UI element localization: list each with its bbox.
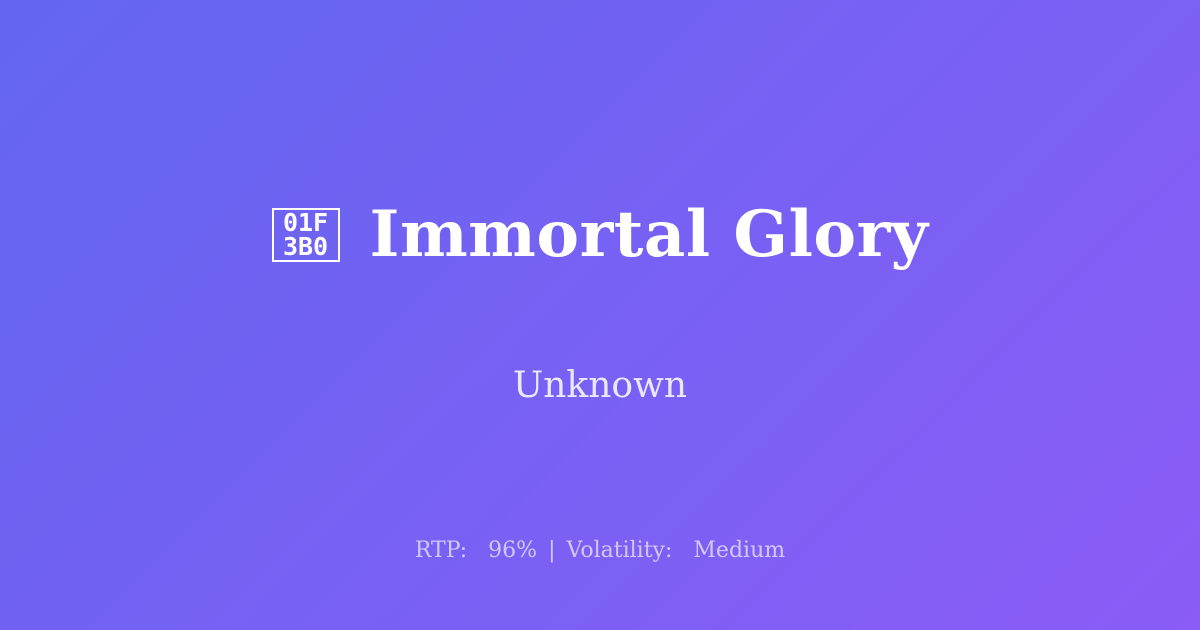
- rtp-value: 96%: [488, 538, 537, 563]
- rtp-label: RTP:: [415, 538, 467, 563]
- page-title: Immortal Glory: [370, 203, 929, 267]
- og-card: 01F 3B0 Immortal Glory Unknown RTP: 96% …: [0, 0, 1200, 630]
- volatility-label: Volatility:: [567, 538, 673, 563]
- subtitle: Unknown: [513, 368, 687, 404]
- hero-section: 01F 3B0 Immortal Glory Unknown: [0, 0, 1200, 630]
- meta-separator: |: [544, 538, 559, 563]
- game-meta-line: RTP: 96% | Volatility: Medium: [0, 540, 1200, 562]
- title-row: 01F 3B0 Immortal Glory: [272, 160, 929, 310]
- slot-machine-emoji-icon: 01F 3B0: [272, 208, 340, 262]
- tofu-hex-row-bottom: 3B0: [283, 235, 328, 259]
- volatility-value: Medium: [693, 538, 785, 563]
